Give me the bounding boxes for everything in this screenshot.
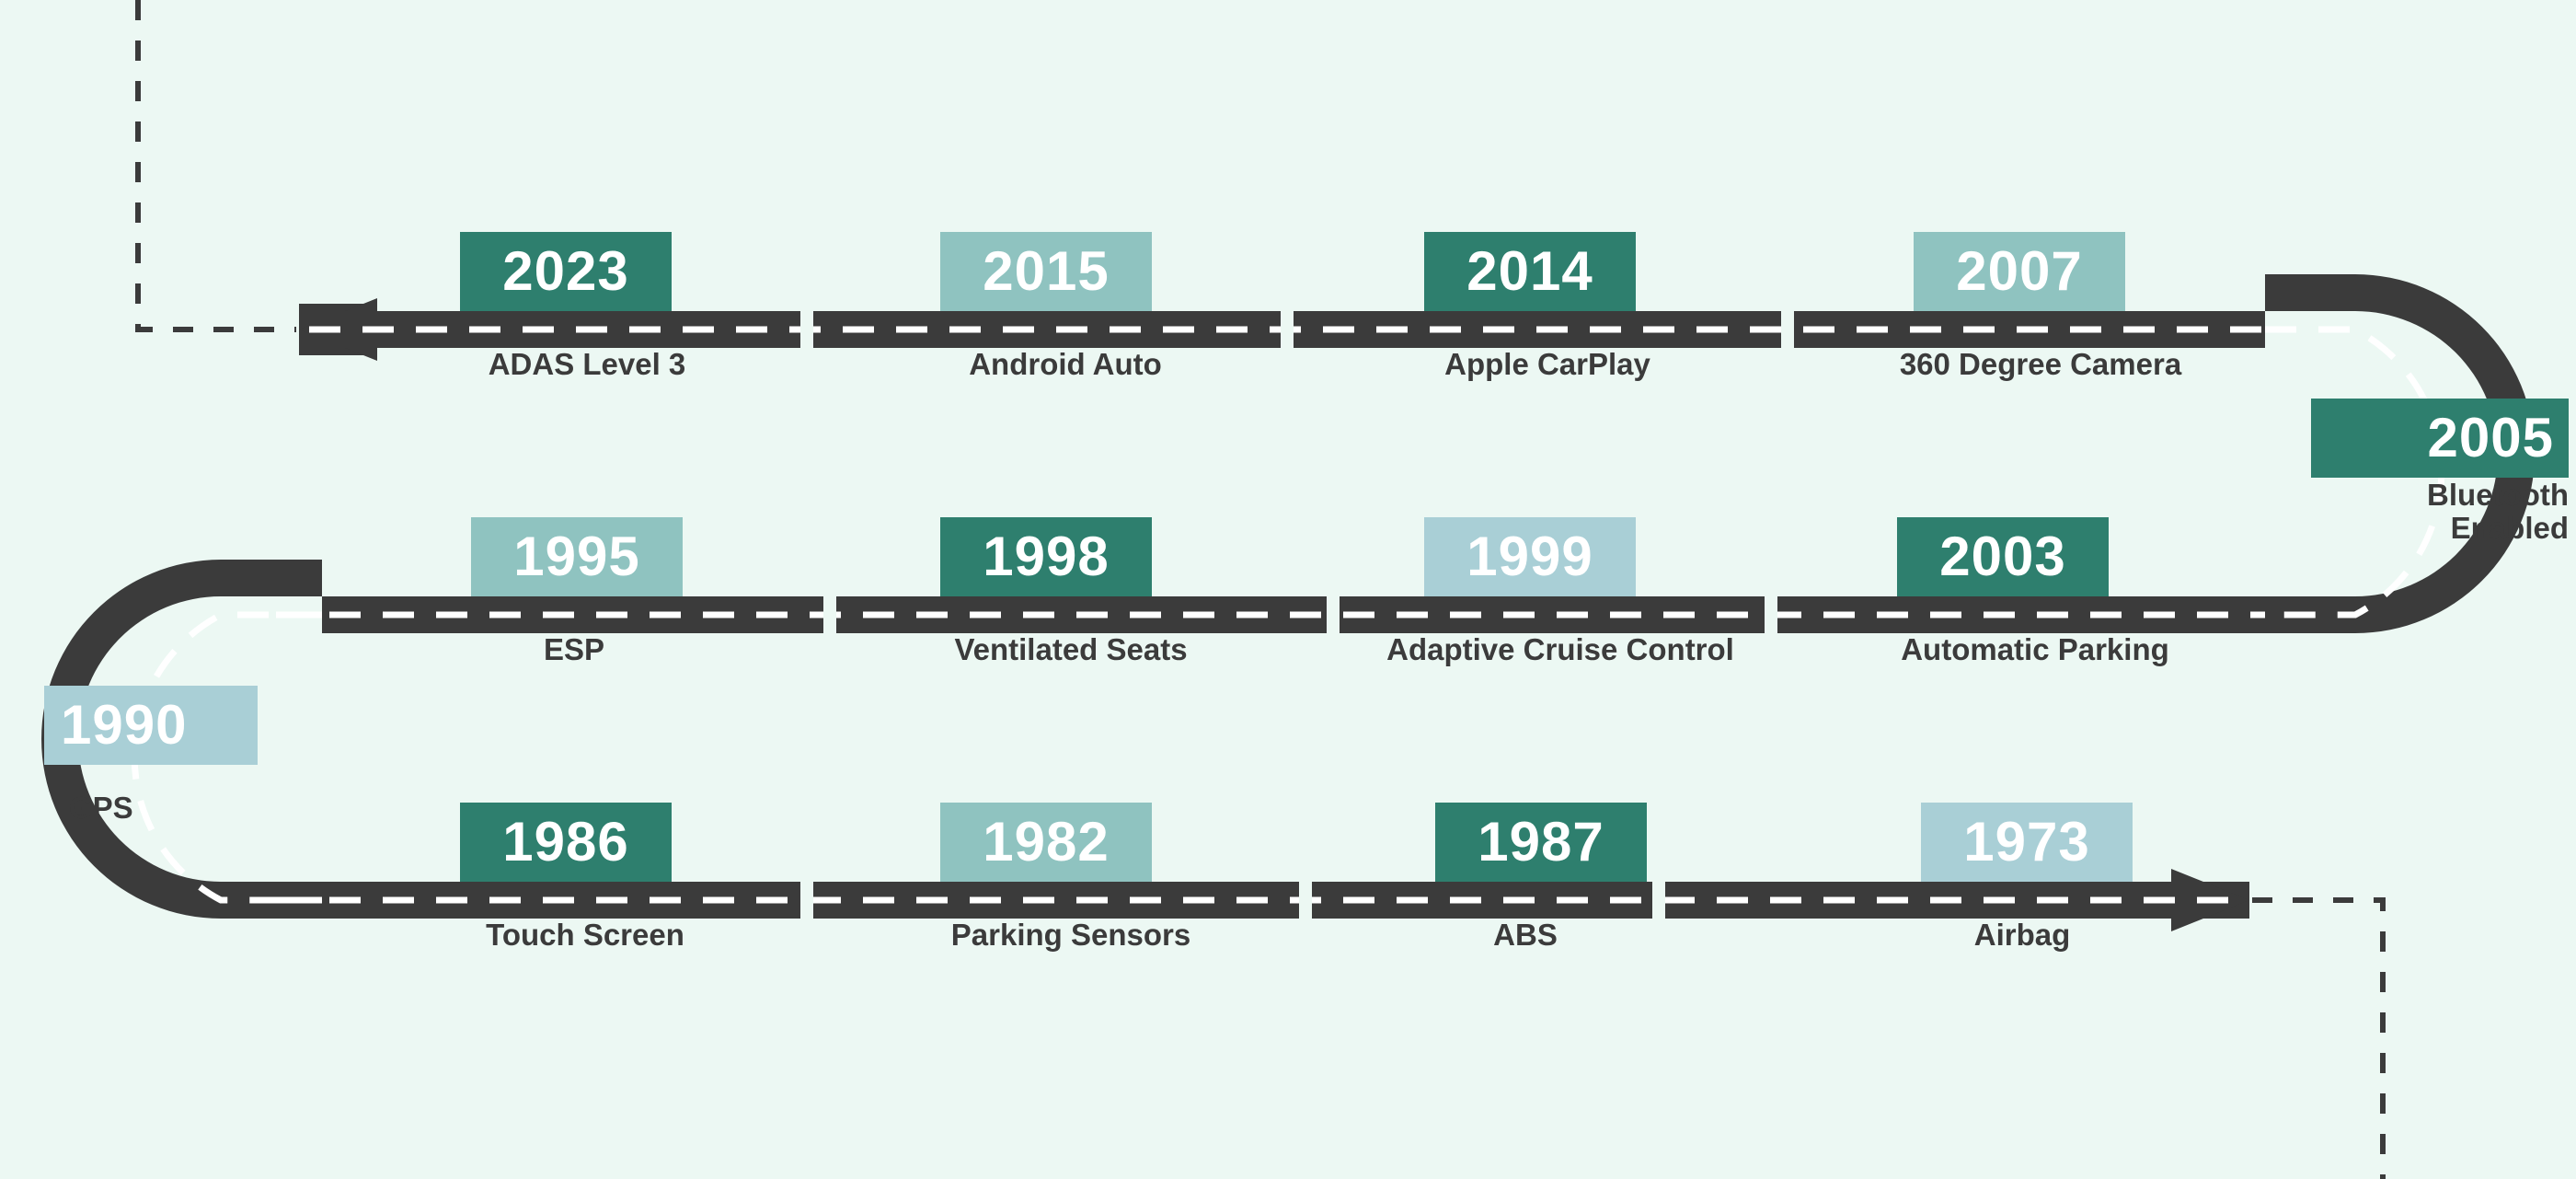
- year-chip-2005[interactable]: 2005: [2311, 399, 2569, 478]
- caption-airbag: Airbag: [1974, 919, 2071, 952]
- year-chip-1999[interactable]: 1999: [1424, 517, 1636, 596]
- caption-apple-carplay: Apple CarPlay: [1444, 348, 1650, 381]
- year-chip-2014[interactable]: 2014: [1424, 232, 1636, 311]
- year-chip-2007[interactable]: 2007: [1914, 232, 2125, 311]
- caption-bluetooth-enabled: Bluetooth Enabled: [2201, 479, 2569, 544]
- year-chip-2015[interactable]: 2015: [940, 232, 1152, 311]
- year-chip-1995[interactable]: 1995: [471, 517, 683, 596]
- caption-parking-sensors: Parking Sensors: [951, 919, 1190, 952]
- caption-360-degree-camera: 360 Degree Camera: [1900, 348, 2181, 381]
- year-chip-1987[interactable]: 1987: [1435, 803, 1647, 882]
- caption-adaptive-cruise-control: Adaptive Cruise Control: [1386, 633, 1734, 666]
- connector-bottom-right: [2252, 900, 2383, 1179]
- caption-bluetooth-line1: Bluetooth: [2427, 478, 2569, 512]
- year-chip-1982[interactable]: 1982: [940, 803, 1152, 882]
- year-chip-2023[interactable]: 2023: [460, 232, 672, 311]
- caption-ventilated-seats: Ventilated Seats: [954, 633, 1187, 666]
- caption-gps: GPS: [69, 792, 133, 825]
- year-chip-2003[interactable]: 2003: [1897, 517, 2109, 596]
- caption-adas-level-3: ADAS Level 3: [489, 348, 686, 381]
- connector-top-left: [138, 0, 296, 329]
- caption-automatic-parking: Automatic Parking: [1901, 633, 2169, 666]
- year-chip-1986[interactable]: 1986: [460, 803, 672, 882]
- caption-touch-screen: Touch Screen: [486, 919, 684, 952]
- caption-abs: ABS: [1493, 919, 1558, 952]
- year-chip-1973[interactable]: 1973: [1921, 803, 2133, 882]
- caption-android-auto: Android Auto: [969, 348, 1162, 381]
- caption-bluetooth-line2: Enabled: [2451, 511, 2569, 545]
- road-path-graphic: [0, 0, 2576, 1179]
- year-chip-1998[interactable]: 1998: [940, 517, 1152, 596]
- caption-esp: ESP: [544, 633, 604, 666]
- year-chip-1990[interactable]: 1990: [44, 686, 258, 765]
- timeline-infographic: 2023 ADAS Level 3 2015 Android Auto 2014…: [0, 0, 2576, 1179]
